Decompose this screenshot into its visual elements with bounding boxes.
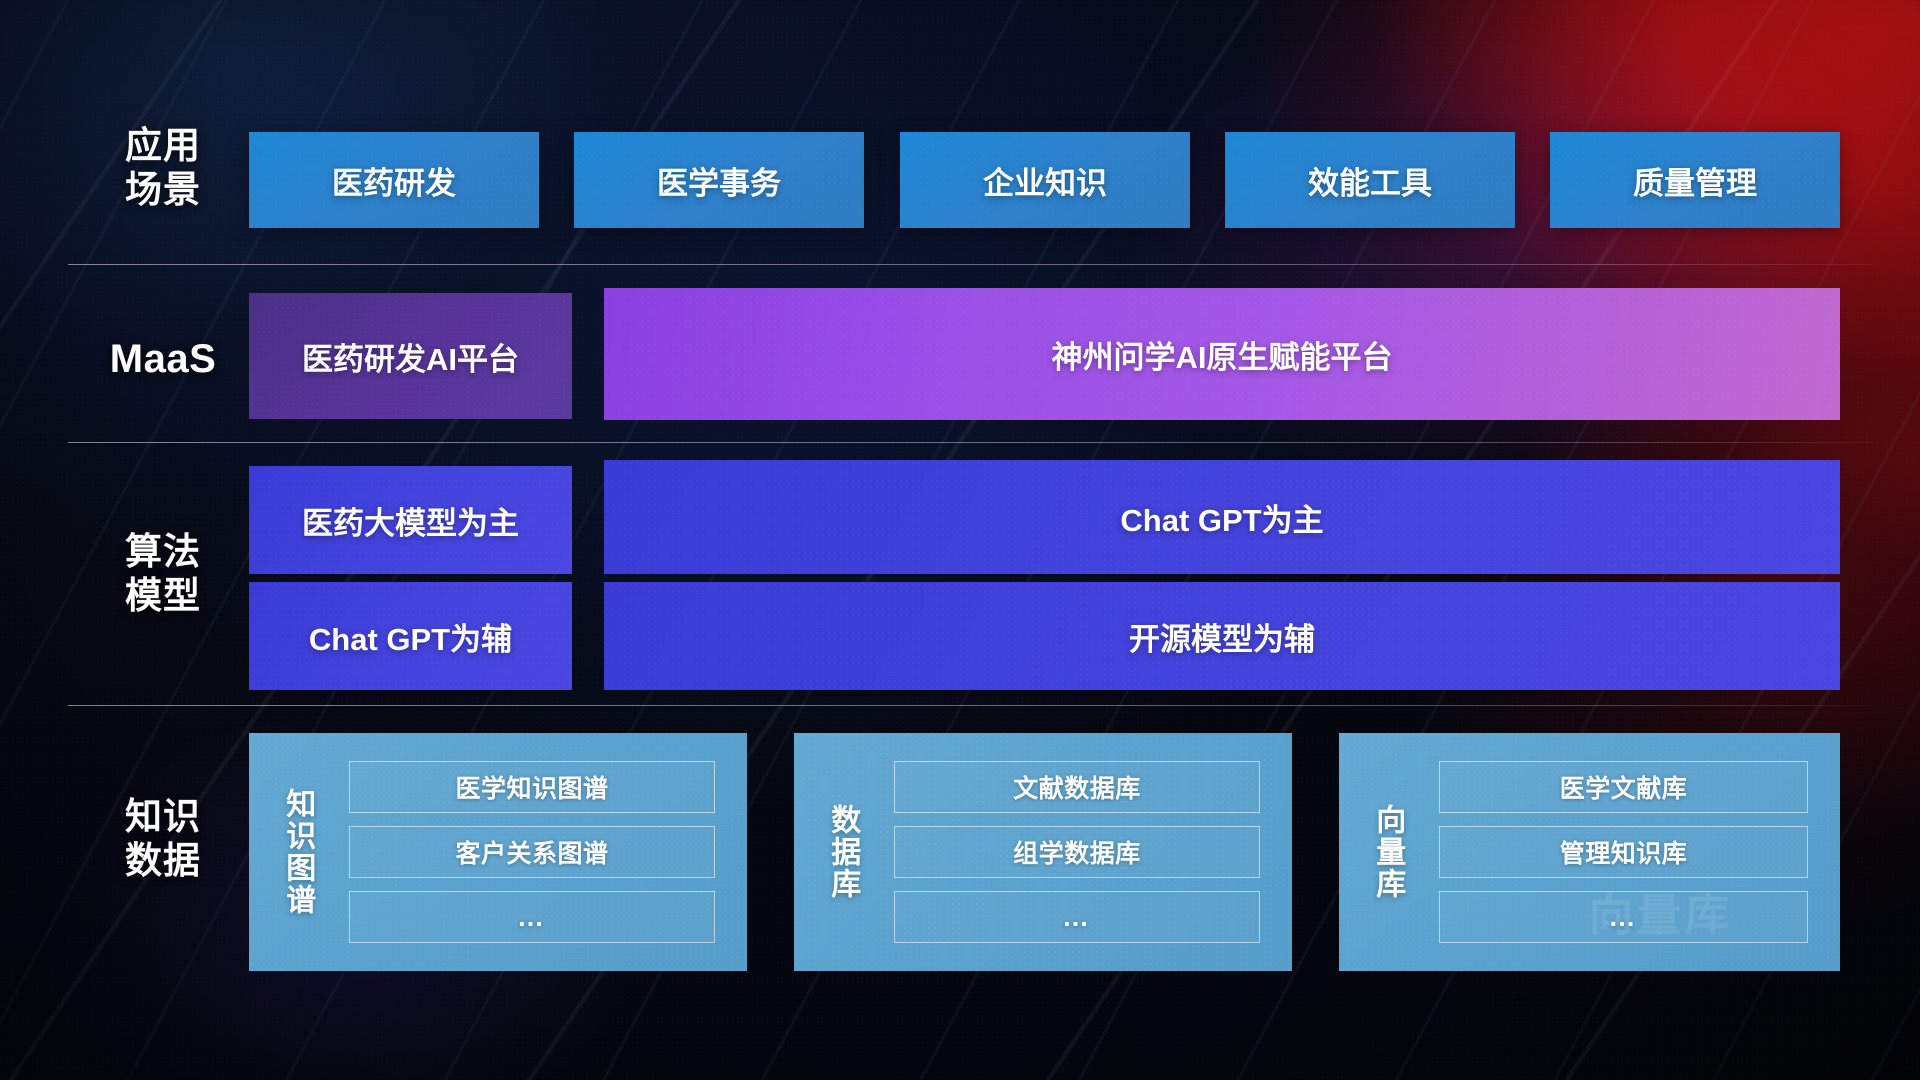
maas-platform-box-shenzhou-label: 神州问学AI原生赋能平台 — [1052, 332, 1393, 377]
scenario-box-2-label: 医学事务 — [657, 158, 781, 203]
scenario-box-3-label: 企业知识 — [983, 158, 1107, 203]
scenario-box-2[interactable]: 医学事务 — [574, 132, 864, 228]
algorithm-box-pharma-primary-label: 医药大模型为主 — [302, 498, 519, 543]
list-item[interactable]: 医学知识图谱 — [349, 761, 715, 813]
divider-row-1-2 — [68, 264, 1872, 265]
knowledge-panel-database-category: 数据库 — [794, 733, 890, 971]
row-label-maas: MaaS — [88, 336, 238, 383]
scenario-box-1-label: 医药研发 — [332, 158, 456, 203]
knowledge-panel-database[interactable]: 数据库 文献数据库 组学数据库 … — [794, 733, 1292, 971]
algorithm-box-chatgpt-primary-label: Chat GPT为主 — [1120, 495, 1323, 540]
maas-platform-box-pharma-label: 医药研发AI平台 — [302, 334, 519, 379]
list-item-more[interactable]: … — [894, 891, 1260, 943]
algorithm-box-chatgpt-secondary[interactable]: Chat GPT为辅 — [249, 582, 572, 690]
knowledge-panel-vector[interactable]: 向量库 向量库 医学文献库 管理知识库 … — [1339, 733, 1840, 971]
divider-row-3-4 — [68, 705, 1872, 706]
knowledge-panel-graph[interactable]: 知识图谱 医学知识图谱 客户关系图谱 … — [249, 733, 747, 971]
list-item-more[interactable]: … — [349, 891, 715, 943]
algorithm-box-chatgpt-primary[interactable]: Chat GPT为主 — [604, 460, 1840, 574]
knowledge-panel-vector-list: 医学文献库 管理知识库 … — [1435, 733, 1840, 971]
list-item[interactable]: 客户关系图谱 — [349, 826, 715, 878]
algorithm-box-opensource-secondary[interactable]: 开源模型为辅 — [604, 582, 1840, 690]
knowledge-panel-graph-category: 知识图谱 — [249, 733, 345, 971]
architecture-diagram: 应用 场景 医药研发 医学事务 企业知识 效能工具 质量管理 MaaS 医药研发… — [0, 0, 1920, 1080]
knowledge-panel-graph-list: 医学知识图谱 客户关系图谱 … — [345, 733, 747, 971]
maas-platform-box-shenzhou[interactable]: 神州问学AI原生赋能平台 — [604, 288, 1840, 420]
list-item[interactable]: 管理知识库 — [1439, 826, 1808, 878]
knowledge-panel-database-list: 文献数据库 组学数据库 … — [890, 733, 1292, 971]
list-item[interactable]: 文献数据库 — [894, 761, 1260, 813]
maas-platform-box-pharma[interactable]: 医药研发AI平台 — [249, 293, 572, 419]
list-item-more[interactable]: … — [1439, 891, 1808, 943]
list-item[interactable]: 医学文献库 — [1439, 761, 1808, 813]
row-label-application-scenarios: 应用 场景 — [88, 124, 238, 211]
scenario-box-4-label: 效能工具 — [1308, 158, 1432, 203]
row-label-algorithm-model: 算法 模型 — [88, 530, 238, 617]
scenario-box-5-label: 质量管理 — [1633, 158, 1757, 203]
scenario-box-3[interactable]: 企业知识 — [900, 132, 1190, 228]
list-item[interactable]: 组学数据库 — [894, 826, 1260, 878]
divider-row-2-3 — [68, 442, 1872, 443]
algorithm-box-chatgpt-secondary-label: Chat GPT为辅 — [309, 614, 512, 659]
slide-canvas: 应用 场景 医药研发 医学事务 企业知识 效能工具 质量管理 MaaS 医药研发… — [0, 0, 1920, 1080]
scenario-box-4[interactable]: 效能工具 — [1225, 132, 1515, 228]
algorithm-box-opensource-secondary-label: 开源模型为辅 — [1129, 614, 1315, 659]
row-label-knowledge-data: 知识 数据 — [88, 795, 238, 882]
scenario-box-5[interactable]: 质量管理 — [1550, 132, 1840, 228]
scenario-box-1[interactable]: 医药研发 — [249, 132, 539, 228]
knowledge-panel-vector-category: 向量库 — [1339, 733, 1435, 971]
algorithm-box-pharma-primary[interactable]: 医药大模型为主 — [249, 466, 572, 574]
